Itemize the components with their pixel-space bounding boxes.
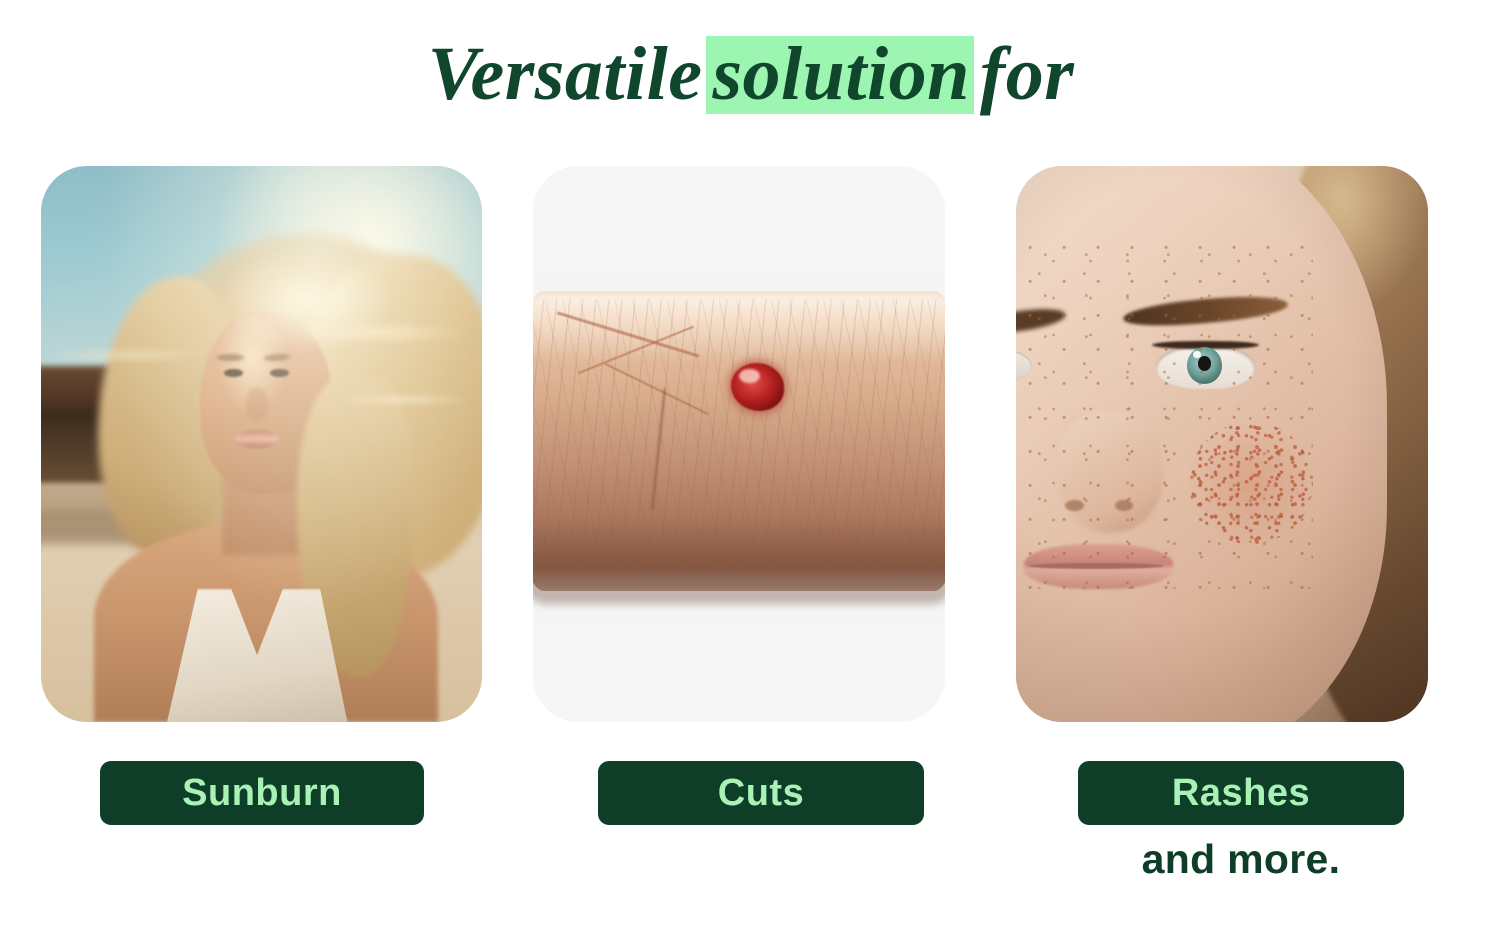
photo-card-cuts[interactable]: [533, 166, 945, 722]
headline-word-highlight: solution: [706, 36, 973, 114]
label-button-row: Sunburn Cuts Rashes: [0, 761, 1500, 825]
page-title: Versatilesolutionfor: [0, 36, 1500, 114]
photo-card-row: [0, 166, 1500, 722]
headline-word-after: for: [974, 36, 1078, 114]
sunburn-photo: [41, 166, 482, 722]
label-button-sunburn[interactable]: Sunburn: [100, 761, 424, 825]
and-more-text: and more.: [1078, 836, 1404, 883]
photo-card-sunburn[interactable]: [41, 166, 482, 722]
headline-word-before: Versatile: [422, 36, 707, 114]
promo-banner: Versatilesolutionfor: [0, 0, 1500, 938]
label-button-rashes[interactable]: Rashes: [1078, 761, 1404, 825]
label-button-cuts[interactable]: Cuts: [598, 761, 924, 825]
cut-photo: [533, 166, 945, 722]
rash-photo: [1016, 166, 1428, 722]
photo-card-rashes[interactable]: [1016, 166, 1428, 722]
